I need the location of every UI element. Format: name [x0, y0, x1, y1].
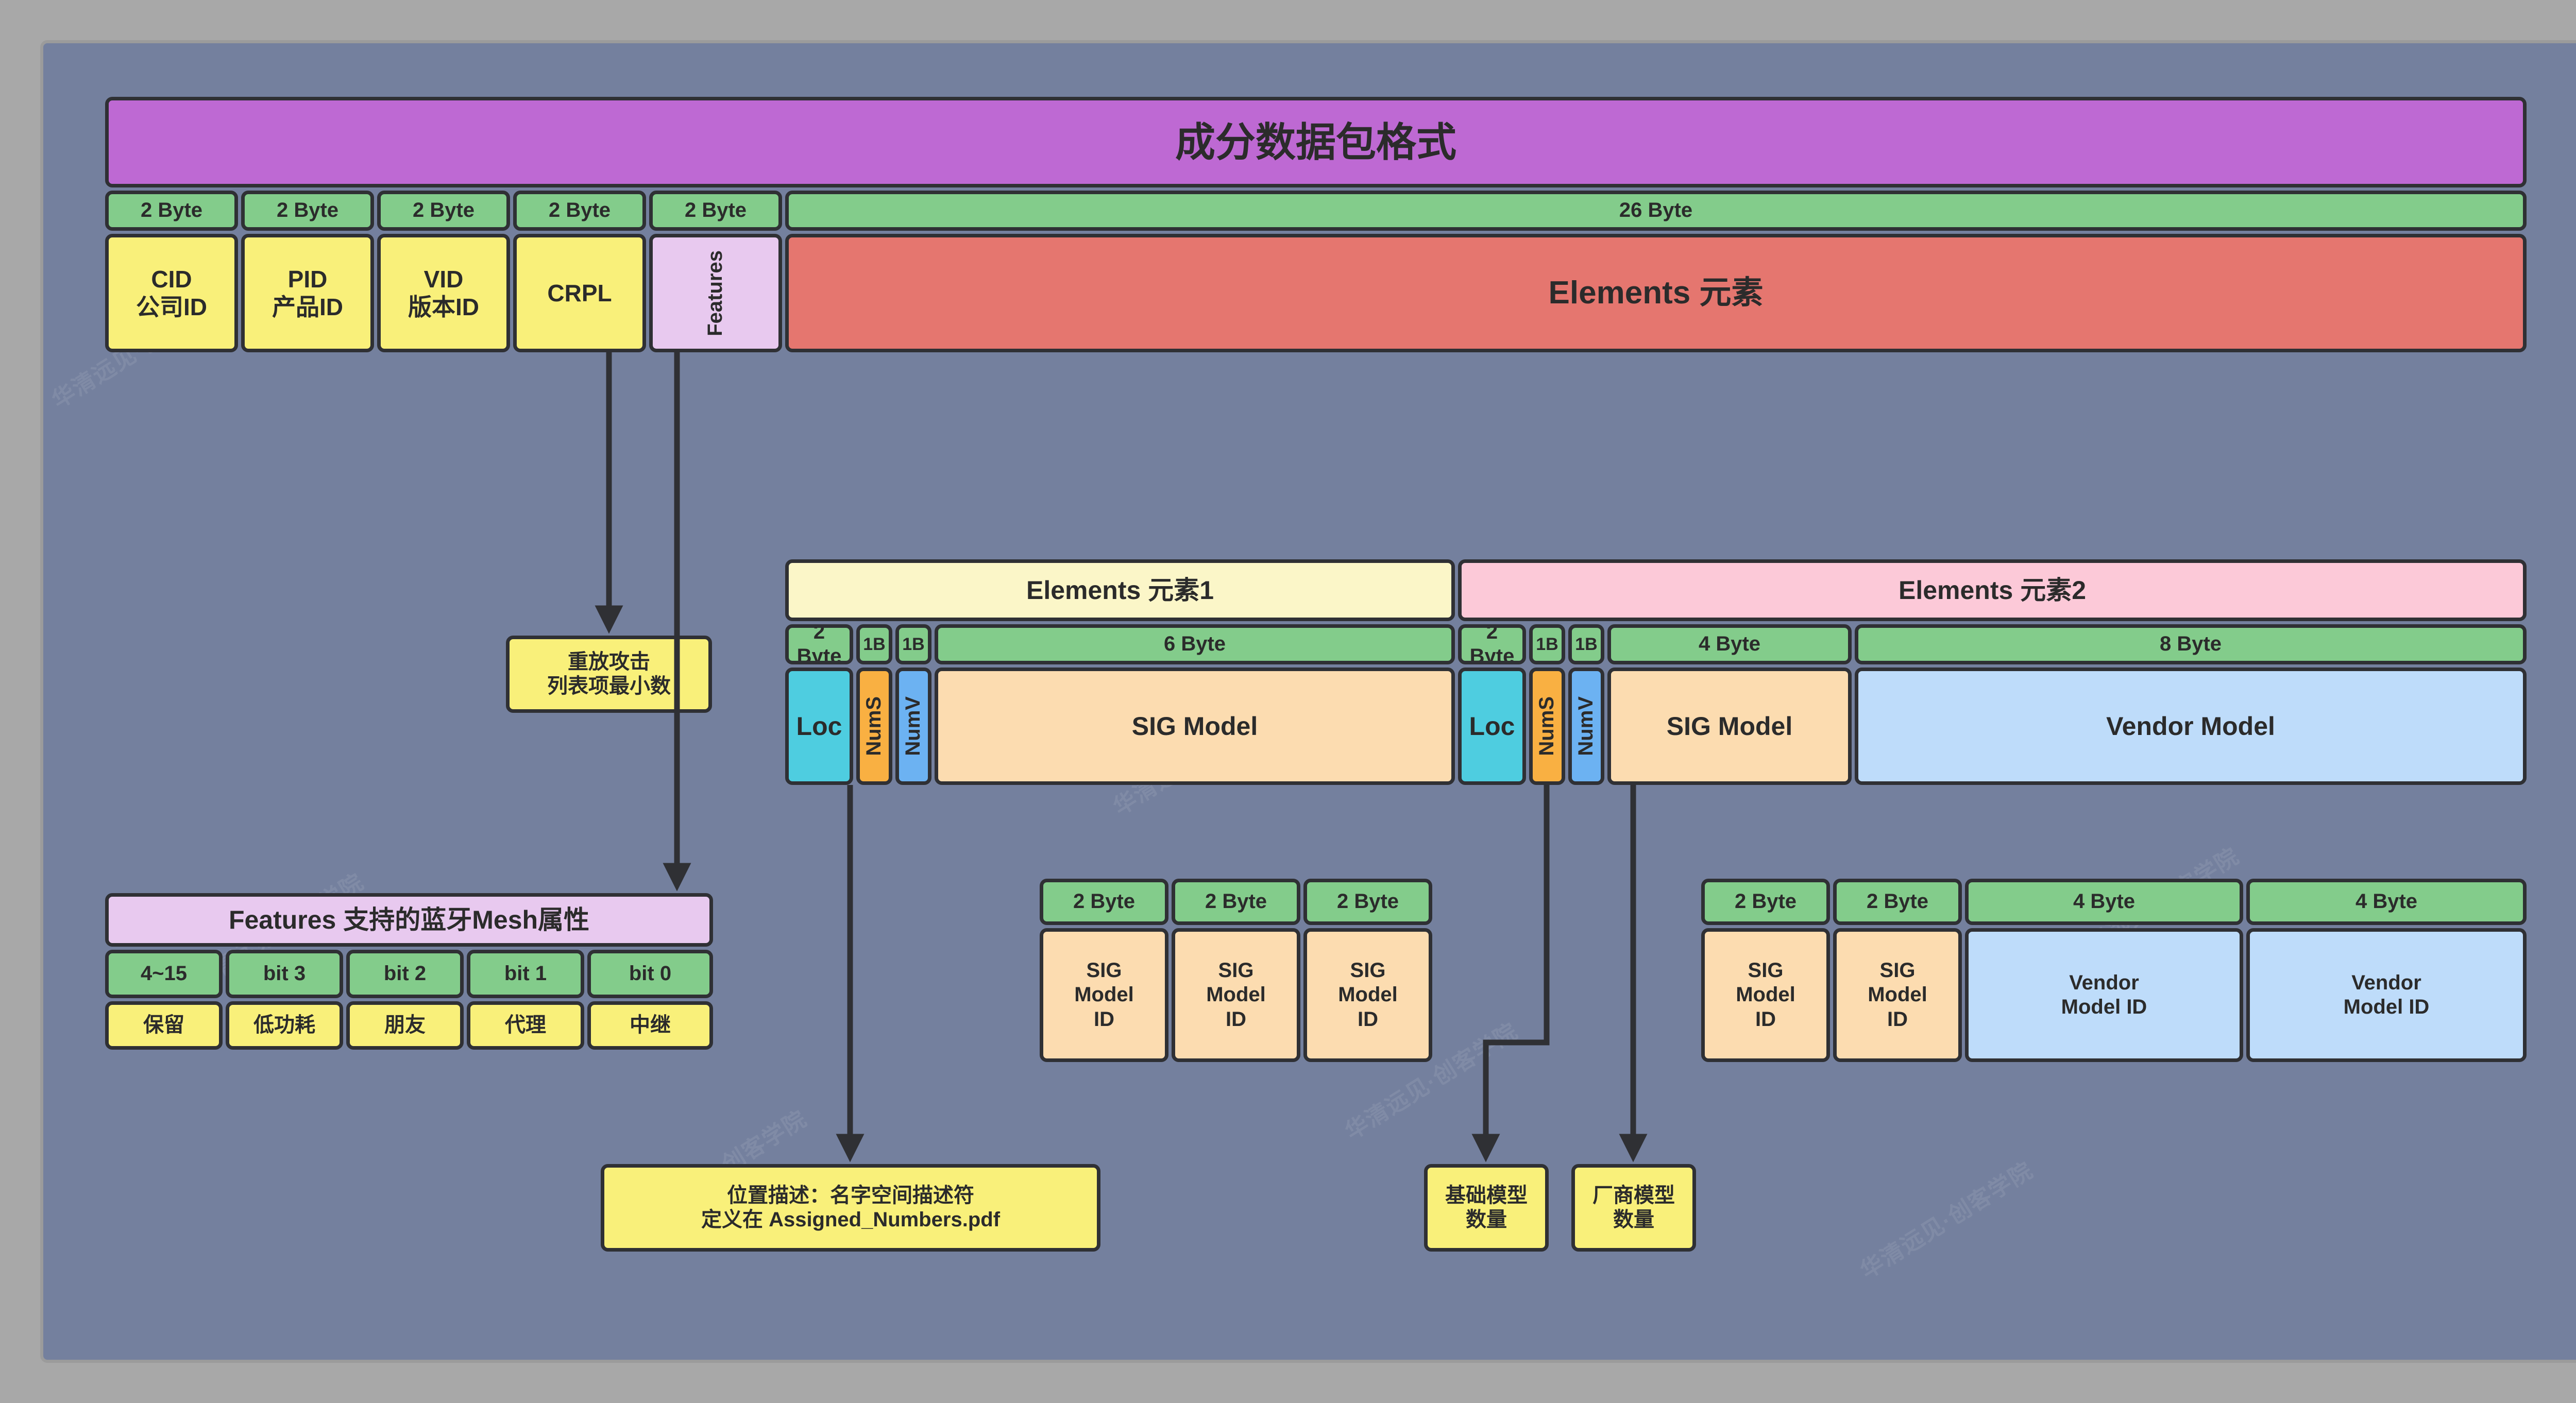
features-table-title: Features 支持的蓝牙Mesh属性 [105, 893, 713, 947]
element2-field-sigmodel: SIG Model [1607, 668, 1852, 785]
packet-byte-header-0: 2 Byte [105, 191, 238, 231]
element2-byte-header-2: 1B [1568, 624, 1604, 664]
element2-byte-header-3: 4 Byte [1607, 624, 1852, 664]
element2-field-vendormodel: Vendor Model [1855, 668, 2527, 785]
callout-numv-line2: 数量 [1613, 1208, 1654, 1232]
packet-byte-header-3: 2 Byte [513, 191, 646, 231]
features-bit-2: bit 2 [346, 950, 464, 998]
element1-nums-label: NumS [862, 696, 886, 756]
field-pid-desc: 产品ID [272, 293, 343, 321]
element2-nums-label: NumS [1535, 696, 1559, 756]
element1-byte-header-1: 1B [856, 624, 892, 664]
element1-field-loc: Loc [785, 668, 853, 785]
element1-group-title: Elements 元素1 [785, 559, 1455, 621]
field-cid-desc: 公司ID [136, 293, 207, 321]
packet-field-pid: PID 产品ID [241, 234, 374, 352]
element1-field-sigmodel: SIG Model [935, 668, 1455, 785]
callout-loc-line2: 定义在 Assigned_Numbers.pdf [701, 1208, 1000, 1232]
field-features-label: Features [703, 250, 727, 336]
packet-field-elements: Elements 元素 [785, 234, 2527, 352]
watermark: 华清远见·创客学院 [1853, 1152, 2038, 1285]
features-bit-1: bit 3 [226, 950, 343, 998]
element2-byte-header-1: 1B [1529, 624, 1565, 664]
field-vid-name: VID [424, 265, 464, 293]
element1-byte-header-3: 6 Byte [935, 624, 1455, 664]
element2-numv-label: NumV [1574, 696, 1598, 756]
callout-loc: 位置描述：名字空间描述符 定义在 Assigned_Numbers.pdf [601, 1164, 1100, 1252]
sig-detail-byte-header-0: 2 Byte [1040, 879, 1168, 925]
features-name-1: 低功耗 [226, 1001, 343, 1050]
element1-field-numv: NumV [895, 668, 931, 785]
packet-byte-header-2: 2 Byte [377, 191, 510, 231]
element1-field-nums: NumS [856, 668, 892, 785]
features-name-4: 中继 [587, 1001, 713, 1050]
features-name-0: 保留 [105, 1001, 223, 1050]
element2-group-title: Elements 元素2 [1458, 559, 2527, 621]
element1-byte-header-0: 2 Byte [785, 624, 853, 664]
vendor-detail-byte-header-3: 4 Byte [2246, 879, 2527, 925]
callout-nums-line1: 基础模型 [1445, 1184, 1528, 1208]
element2-field-numv: NumV [1568, 668, 1604, 785]
features-name-2: 朋友 [346, 1001, 464, 1050]
vendor-detail-cell-1: SIG Model ID [1833, 928, 1962, 1062]
vendor-detail-cell-0: SIG Model ID [1701, 928, 1830, 1062]
packet-field-cid: CID 公司ID [105, 234, 238, 352]
sig-detail-cell-0: SIG Model ID [1040, 928, 1168, 1062]
sig-detail-cell-2: SIG Model ID [1303, 928, 1432, 1062]
callout-numv-line1: 厂商模型 [1592, 1184, 1675, 1208]
element1-byte-header-2: 1B [895, 624, 931, 664]
packet-byte-header-4: 2 Byte [649, 191, 782, 231]
callout-nums: 基础模型 数量 [1424, 1164, 1549, 1252]
sig-detail-byte-header-1: 2 Byte [1172, 879, 1300, 925]
callout-numv: 厂商模型 数量 [1571, 1164, 1696, 1252]
features-bit-3: bit 1 [467, 950, 584, 998]
element2-byte-header-4: 8 Byte [1855, 624, 2527, 664]
page-title: 成分数据包格式 [105, 97, 2527, 187]
vendor-detail-byte-header-0: 2 Byte [1701, 879, 1830, 925]
field-vid-desc: 版本ID [408, 293, 479, 321]
field-pid-name: PID [288, 265, 328, 293]
callout-crpl: 重放攻击 列表项最小数 [506, 636, 712, 713]
packet-field-features: Features [649, 234, 782, 352]
callout-crpl-line2: 列表项最小数 [547, 674, 671, 698]
packet-field-vid: VID 版本ID [377, 234, 510, 352]
vendor-detail-byte-header-2: 4 Byte [1965, 879, 2243, 925]
callout-nums-line2: 数量 [1466, 1208, 1507, 1232]
vendor-detail-cell-3: Vendor Model ID [2246, 928, 2527, 1062]
features-bit-0: 4~15 [105, 950, 223, 998]
element1-numv-label: NumV [901, 696, 925, 756]
vendor-detail-byte-header-1: 2 Byte [1833, 879, 1962, 925]
vendor-detail-cell-2: Vendor Model ID [1965, 928, 2243, 1062]
features-name-3: 代理 [467, 1001, 584, 1050]
sig-detail-cell-1: SIG Model ID [1172, 928, 1300, 1062]
element2-byte-header-0: 2 Byte [1458, 624, 1526, 664]
packet-byte-header-1: 2 Byte [241, 191, 374, 231]
arrow-nums-to-callout [1486, 785, 1547, 1154]
packet-field-crpl: CRPL [513, 234, 646, 352]
sig-detail-byte-header-2: 2 Byte [1303, 879, 1432, 925]
callout-loc-line1: 位置描述：名字空间描述符 [727, 1184, 974, 1208]
element2-field-loc: Loc [1458, 668, 1526, 785]
callout-crpl-line1: 重放攻击 [568, 650, 650, 674]
element2-field-nums: NumS [1529, 668, 1565, 785]
field-cid-name: CID [151, 265, 192, 293]
diagram-canvas: 华清远见·创客学院 华清远见·创客学院 华清远见·创客学院 华清远见·创客学院 … [40, 40, 2576, 1363]
features-bit-4: bit 0 [587, 950, 713, 998]
packet-elements-byte-header: 26 Byte [785, 191, 2527, 231]
